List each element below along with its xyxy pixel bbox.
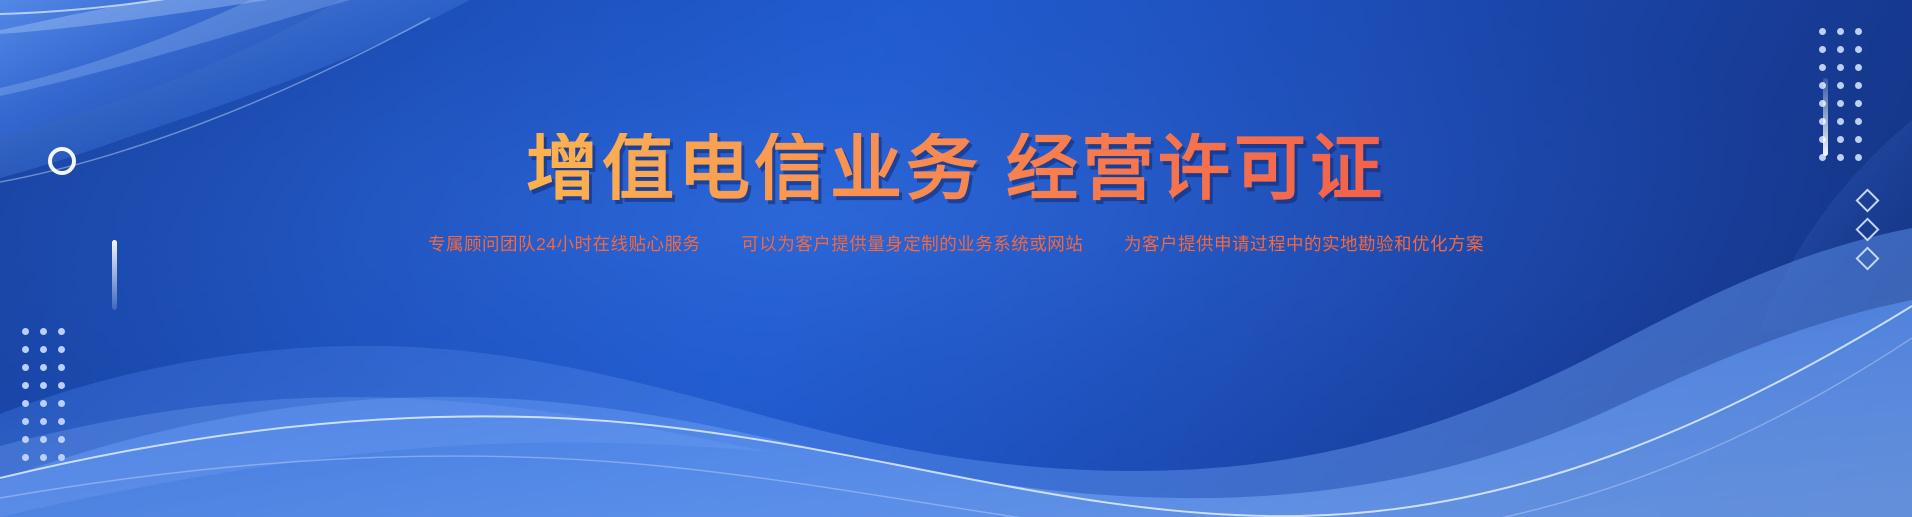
dot — [1855, 100, 1862, 107]
dot — [1855, 46, 1862, 53]
dot — [1837, 100, 1844, 107]
dot — [40, 418, 47, 425]
dot — [22, 328, 29, 335]
dot — [58, 454, 65, 461]
dot — [1855, 64, 1862, 71]
dot — [1819, 46, 1826, 53]
dot — [1837, 118, 1844, 125]
dot — [22, 436, 29, 443]
dot — [1855, 82, 1862, 89]
dot — [58, 418, 65, 425]
banner-subtitle: 专属顾问团队24小时在线贴心服务 可以为客户提供量身定制的业务系统或网站 为客户… — [0, 231, 1912, 256]
dot-grid-bottom-left — [22, 328, 65, 461]
dot — [22, 418, 29, 425]
dot — [1837, 82, 1844, 89]
dot — [22, 346, 29, 353]
dot — [1819, 28, 1826, 35]
subtitle-segment-3: 为客户提供申请过程中的实地勘验和优化方案 — [1122, 234, 1486, 254]
dot — [58, 382, 65, 389]
dot — [40, 454, 47, 461]
dot — [40, 346, 47, 353]
dot — [1855, 118, 1862, 125]
banner-headline: 增值电信业务 经营许可证 — [0, 133, 1912, 205]
dot — [58, 364, 65, 371]
background-wave-art — [0, 0, 1912, 517]
dot — [40, 382, 47, 389]
dot — [40, 400, 47, 407]
dot — [1855, 28, 1862, 35]
dot — [1837, 46, 1844, 53]
subtitle-segment-1: 专属顾问团队24小时在线贴心服务 — [426, 234, 702, 254]
dot — [58, 400, 65, 407]
dot — [58, 346, 65, 353]
dot — [40, 364, 47, 371]
dot — [58, 328, 65, 335]
dot — [40, 436, 47, 443]
promo-banner: 增值电信业务 经营许可证 专属顾问团队24小时在线贴心服务 可以为客户提供量身定… — [0, 0, 1912, 517]
dot — [22, 400, 29, 407]
dot — [22, 382, 29, 389]
dot — [1819, 64, 1826, 71]
dot — [1837, 28, 1844, 35]
dot — [40, 328, 47, 335]
dot — [1837, 64, 1844, 71]
subtitle-segment-2: 可以为客户提供量身定制的业务系统或网站 — [739, 234, 1085, 254]
banner-text-block: 增值电信业务 经营许可证 专属顾问团队24小时在线贴心服务 可以为客户提供量身定… — [0, 133, 1912, 256]
dot — [22, 364, 29, 371]
dot — [58, 436, 65, 443]
dot — [22, 454, 29, 461]
